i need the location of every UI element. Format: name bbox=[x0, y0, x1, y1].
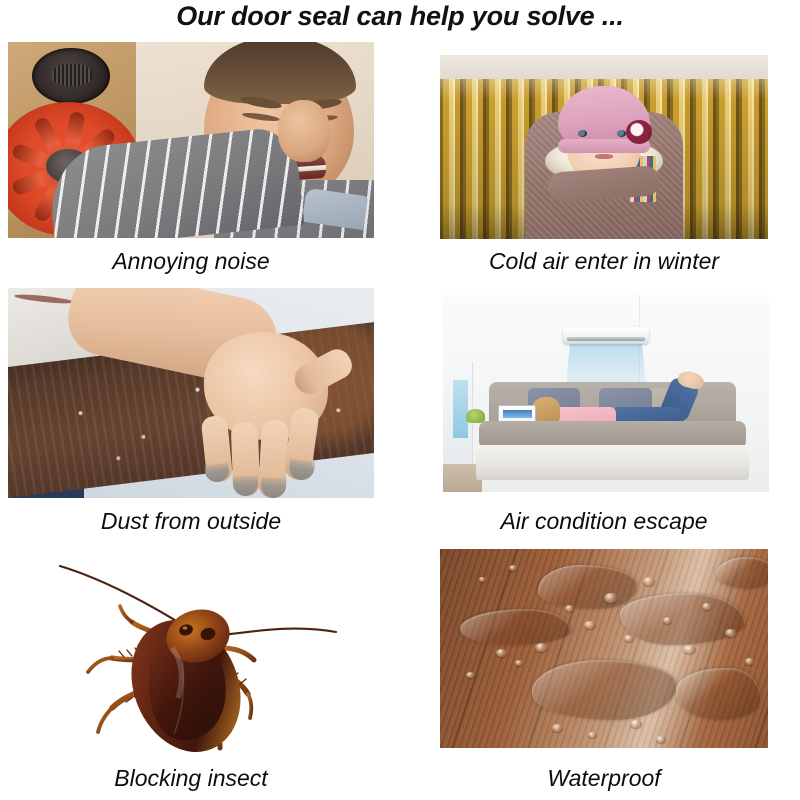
hat-flower-icon bbox=[626, 120, 652, 144]
photo-cockroach bbox=[36, 548, 366, 756]
caption-dust: Dust from outside bbox=[8, 508, 374, 535]
page-title: Our door seal can help you solve ... bbox=[0, 1, 800, 32]
caption-air-condition: Air condition escape bbox=[432, 508, 776, 535]
panel-cold-air bbox=[440, 55, 768, 239]
air-conditioner-icon bbox=[563, 327, 649, 344]
water-puddle bbox=[532, 660, 676, 720]
caption-waterproof: Waterproof bbox=[432, 765, 776, 792]
wall-top bbox=[440, 55, 768, 79]
man-hair bbox=[204, 42, 356, 104]
photo-dust bbox=[8, 288, 374, 498]
panel-air-condition bbox=[443, 295, 769, 492]
photo-air-condition bbox=[443, 295, 769, 492]
panel-blocking-insect bbox=[36, 548, 366, 756]
man-hand-covering-ear bbox=[278, 100, 330, 162]
speaker-cone-icon bbox=[32, 48, 110, 104]
photo-waterproof-floor bbox=[440, 549, 768, 748]
photo-cold-air bbox=[440, 55, 768, 239]
caption-annoying-noise: Annoying noise bbox=[8, 248, 374, 275]
sofa-base bbox=[476, 445, 750, 480]
photo-annoying-noise bbox=[8, 42, 374, 238]
panel-annoying-noise bbox=[8, 42, 374, 238]
panel-waterproof bbox=[440, 549, 768, 748]
water-puddle bbox=[676, 668, 761, 720]
caption-cold-air: Cold air enter in winter bbox=[432, 248, 776, 275]
child-mouth bbox=[595, 154, 613, 159]
caption-blocking-insect: Blocking insect bbox=[8, 765, 374, 792]
panel-dust bbox=[8, 288, 374, 498]
water-puddle bbox=[538, 565, 636, 609]
water-puddle bbox=[620, 593, 745, 645]
cockroach-icon bbox=[36, 548, 366, 756]
water-puddle bbox=[716, 557, 768, 589]
